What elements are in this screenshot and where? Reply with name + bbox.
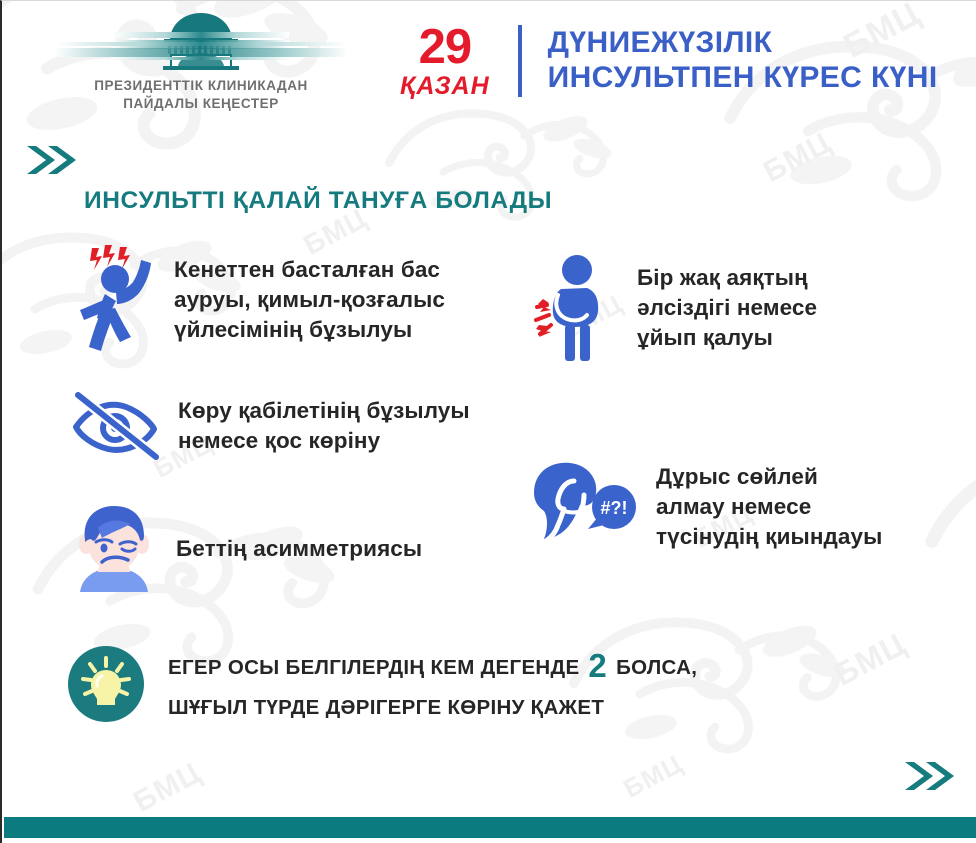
symptom-1-text: Кенеттен басталған бас ауруы, қимыл-қозғ… — [174, 255, 445, 345]
section-title: ИНСУЛЬТТІ ҚАЛАЙ ТАНУҒА БОЛАДЫ — [84, 187, 552, 215]
advice-line1-before: ЕГЕР ОСЫ БЕЛГІЛЕРДІҢ КЕМ ДЕГЕНДЕ — [168, 656, 579, 679]
advice-line1: ЕГЕР ОСЫ БЕЛГІЛЕРДІҢ КЕМ ДЕГЕНДЕ 2 БОЛСА… — [168, 648, 697, 688]
symptom-4-text: Дұрыс сөйлей алмау немесе түсінудің қиын… — [656, 462, 882, 552]
date-month: ҚАЗАН — [400, 74, 490, 99]
poster-header: ПРЕЗИДЕНТТІК КЛИНИКАДАН ПАЙДАЛЫ КЕҢЕСТЕР… — [2, 1, 976, 121]
advice-text: ЕГЕР ОСЫ БЕЛГІЛЕРДІҢ КЕМ ДЕГЕНДЕ 2 БОЛСА… — [168, 646, 697, 728]
event-date: 29 ҚАЗАН — [400, 23, 490, 99]
symptom-3-line2: немесе қос көріну — [178, 426, 470, 456]
symptom-item-1: Кенеттен басталған бас ауруы, қимыл-қозғ… — [72, 244, 502, 356]
symptom-2-line2: әлсіздігі немесе — [637, 293, 817, 323]
watermark-text: БМЦ — [758, 126, 837, 190]
asymmetric-face-icon — [68, 506, 160, 592]
double-chevron-right-icon-top — [24, 143, 80, 182]
page-title: ДҮНИЕЖҮЗІЛІК ИНСУЛЬТПЕН КҮРЕС КҮНІ — [548, 26, 938, 96]
infographic-poster: БМЦ БМЦ БМЦ БМЦ БМЦ БМЦ БМЦ БМЦ БМЦ — [0, 0, 976, 843]
symptom-2-text: Бір жақ аяқтың әлсіздігі немесе ұйып қал… — [637, 263, 817, 353]
chevron-top-svg — [24, 143, 80, 177]
footer-bottom-margin — [4, 838, 976, 843]
logo-caption-line2: ПАЙДАЛЫ КЕҢЕСТЕР — [94, 95, 308, 113]
symptom-5-line1: Беттің асимметриясы — [176, 534, 422, 564]
logo-caption-line1: ПРЕЗИДЕНТТІК КЛИНИКАДАН — [94, 77, 308, 95]
watermark-text: БМЦ — [828, 625, 913, 693]
clinic-logo: ПРЕЗИДЕНТТІК КЛИНИКАДАН ПАЙДАЛЫ КЕҢЕСТЕР — [36, 11, 366, 113]
symptom-1-line1: Кенеттен басталған бас — [174, 255, 445, 285]
speech-difficulty-icon: #?! — [514, 459, 640, 555]
advice-line2: ШҰҒЫЛ ТҮРДЕ ДӘРІГЕРГЕ КӨРІНУ ҚАЖЕТ — [168, 688, 697, 728]
watermark-text: БМЦ — [128, 756, 207, 820]
advice-line1-after: БОЛСА, — [616, 656, 697, 679]
symptom-3-text: Көру қабілетінің бұзылуы немесе қос көрі… — [178, 396, 470, 456]
advice-number: 2 — [585, 647, 610, 684]
symptom-item-2: Бір жақ аяқтың әлсіздігі немесе ұйып қал… — [525, 253, 955, 363]
date-day: 29 — [400, 23, 490, 72]
falling-person-headache-icon — [72, 244, 158, 356]
chevron-bottom-svg — [902, 759, 958, 793]
double-chevron-right-icon-bottom — [902, 759, 958, 798]
symptom-3-line1: Көру қабілетінің бұзылуы — [178, 396, 470, 426]
watermark-text: БМЦ — [618, 748, 688, 805]
symptom-item-4: #?! Дұрыс сөйлей алмау немесе түсінудің … — [514, 459, 964, 555]
advice-callout: ЕГЕР ОСЫ БЕЛГІЛЕРДІҢ КЕМ ДЕГЕНДЕ 2 БОЛСА… — [68, 646, 697, 728]
symptom-5-text: Беттің асимметриясы — [176, 534, 422, 564]
header-divider — [518, 25, 522, 97]
symptom-item-5: Беттің асимметриясы — [68, 506, 498, 592]
person-limb-weakness-icon — [525, 253, 621, 363]
lightbulb-icon — [68, 646, 144, 722]
symptom-4-line1: Дұрыс сөйлей — [656, 462, 882, 492]
symptom-2-line1: Бір жақ аяқтың — [637, 263, 817, 293]
symptom-2-line3: ұйып қалуы — [637, 323, 817, 353]
symptom-1-line2: ауруы, қимыл-қозғалыс — [174, 285, 445, 315]
footer-bar — [4, 817, 976, 838]
symptom-4-line3: түсінудің қиындауы — [656, 522, 882, 552]
symptom-1-line3: үйлесімінің бұзылуы — [174, 315, 445, 345]
symptom-4-line2: алмау немесе — [656, 492, 882, 522]
government-building-icon — [51, 11, 351, 71]
page-title-line1: ДҮНИЕЖҮЗІЛІК — [548, 26, 938, 61]
speech-bubble-text: #?! — [601, 498, 628, 518]
logo-caption: ПРЕЗИДЕНТТІК КЛИНИКАДАН ПАЙДАЛЫ КЕҢЕСТЕР — [94, 77, 308, 113]
symptom-item-3: Көру қабілетінің бұзылуы немесе қос көрі… — [70, 391, 530, 461]
page-title-line2: ИНСУЛЬТПЕН КҮРЕС КҮНІ — [548, 61, 938, 96]
crossed-out-eye-icon — [70, 391, 162, 461]
